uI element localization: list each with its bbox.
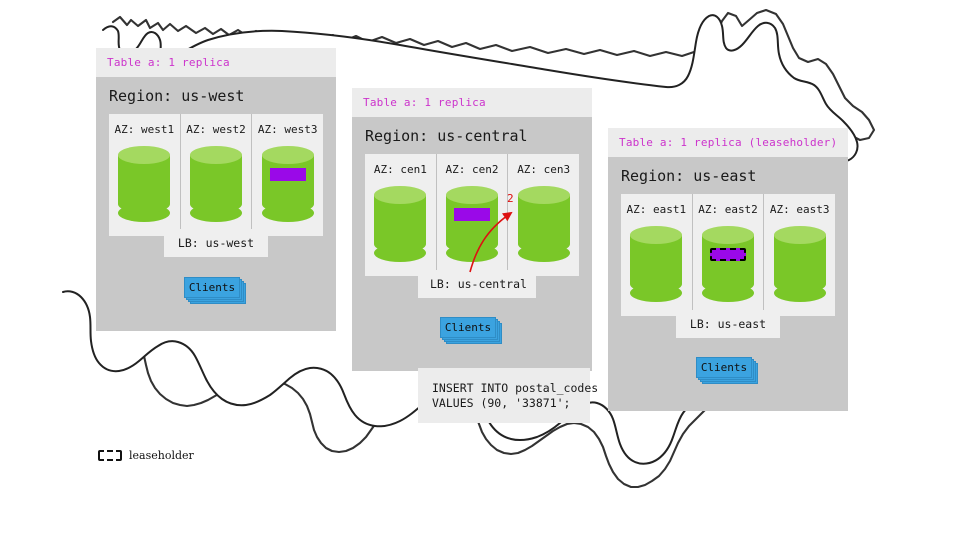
arrow-step-label: 2 [507,192,514,205]
node-cylinder-cen1[interactable] [374,186,426,260]
replica-summary-label: Table a: 1 replica [107,56,230,69]
clients-button-label[interactable]: Clients [696,357,752,378]
legend-label: leaseholder [129,449,194,462]
az-cell-cen1[interactable]: AZ: cen1 [365,154,436,276]
load-balancer-us-east[interactable]: LB: us-east [676,310,780,338]
clients-stack-us-west[interactable]: Clients [184,277,246,301]
cylinder-top [190,146,242,164]
replica-summary-label: Table a: 1 replica (leaseholder) [619,136,837,149]
node-cylinder-east3[interactable] [774,226,826,300]
cylinder-top [118,146,170,164]
az-strip-us-east: AZ: east1 AZ: east2 AZ: east3 [621,194,835,316]
cylinder-top [774,226,826,244]
clients-stack-us-central[interactable]: Clients [440,317,502,341]
az-label: AZ: east1 [621,203,692,216]
load-balancer-us-central[interactable]: LB: us-central [418,270,536,298]
az-cell-east1[interactable]: AZ: east1 [621,194,692,316]
az-label: AZ: cen1 [365,163,436,176]
az-cell-west1[interactable]: AZ: west1 [109,114,180,236]
cylinder-top [630,226,682,244]
az-strip-us-central: AZ: cen1 AZ: cen2 AZ: cen3 [365,154,579,276]
az-cell-west2[interactable]: AZ: west2 [180,114,252,236]
replica-summary-label: Table a: 1 replica [363,96,486,109]
az-label: AZ: west1 [109,123,180,136]
az-label: AZ: west2 [181,123,252,136]
diagram-canvas: Table a: 1 replica Region: us-west AZ: w… [0,0,960,540]
replica-block-east2-leaseholder [710,248,746,261]
node-cylinder-west2[interactable] [190,146,242,220]
load-balancer-us-west[interactable]: LB: us-west [164,229,268,257]
az-label: AZ: east2 [693,203,764,216]
region-panel-us-east: Table a: 1 replica (leaseholder) Region:… [608,128,848,411]
cylinder-top [262,146,314,164]
az-cell-cen2[interactable]: AZ: cen2 [436,154,508,276]
clients-button-label[interactable]: Clients [440,317,496,338]
node-cylinder-cen3[interactable] [518,186,570,260]
clients-stack-us-east[interactable]: Clients [696,357,758,381]
node-cylinder-east1[interactable] [630,226,682,300]
az-label: AZ: east3 [764,203,835,216]
replica-block-west3 [270,168,306,181]
az-label: AZ: cen3 [508,163,579,176]
sql-statement-note: INSERT INTO postal_codes VALUES (90, '33… [418,368,590,423]
az-cell-west3[interactable]: AZ: west3 [251,114,323,236]
replica-block-cen2 [454,208,490,221]
region-title-us-east: Region: us-east [608,157,848,194]
panel-header-us-central: Table a: 1 replica [352,88,592,117]
leaseholder-swatch-icon [98,450,122,461]
clients-button-label[interactable]: Clients [184,277,240,298]
panel-header-us-west: Table a: 1 replica [96,48,336,77]
az-label: AZ: cen2 [437,163,508,176]
az-strip-us-west: AZ: west1 AZ: west2 AZ: west3 [109,114,323,236]
node-cylinder-west1[interactable] [118,146,170,220]
cylinder-top [518,186,570,204]
az-label: AZ: west3 [252,123,323,136]
az-cell-cen3[interactable]: AZ: cen3 [507,154,579,276]
az-cell-east3[interactable]: AZ: east3 [763,194,835,316]
node-cylinder-west3[interactable] [262,146,314,220]
region-panel-us-west: Table a: 1 replica Region: us-west AZ: w… [96,48,336,331]
node-cylinder-cen2[interactable] [446,186,498,260]
node-cylinder-east2[interactable] [702,226,754,300]
az-cell-east2[interactable]: AZ: east2 [692,194,764,316]
cylinder-top [374,186,426,204]
region-panel-us-central: Table a: 1 replica Region: us-central AZ… [352,88,592,371]
region-title-us-west: Region: us-west [96,77,336,114]
cylinder-top [446,186,498,204]
panel-header-us-east: Table a: 1 replica (leaseholder) [608,128,848,157]
legend-leaseholder: leaseholder [98,449,194,462]
cylinder-top [702,226,754,244]
region-title-us-central: Region: us-central [352,117,592,154]
